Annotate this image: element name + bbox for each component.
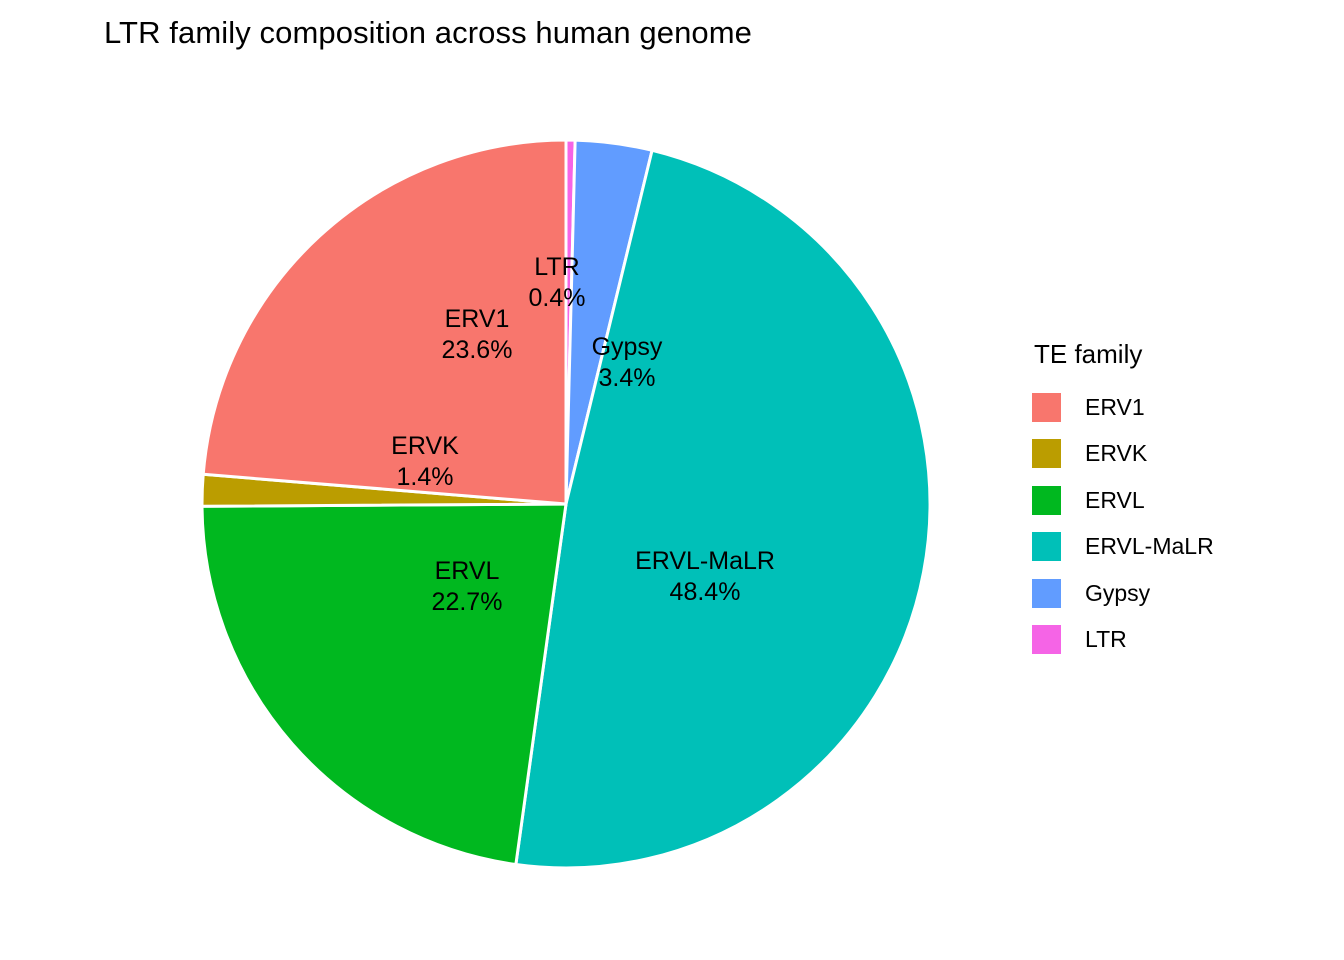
legend-title: TE family [1034, 338, 1332, 370]
legend-item-erv1[interactable]: ERV1 [1032, 384, 1332, 431]
pie-slice-ervl[interactable] [202, 504, 566, 865]
legend-label-ervl: ERVL [1085, 487, 1145, 514]
legend-label-ervk: ERVK [1085, 440, 1147, 467]
legend: TE family ERV1ERVKERVLERVL-MaLRGypsyLTR [1032, 338, 1332, 663]
legend-swatch-ervk [1032, 439, 1061, 468]
legend-label-ervl-malr: ERVL-MaLR [1085, 533, 1214, 560]
legend-swatch-ervl-malr [1032, 532, 1061, 561]
legend-item-ervl-malr[interactable]: ERVL-MaLR [1032, 524, 1332, 571]
legend-item-ltr[interactable]: LTR [1032, 617, 1332, 664]
legend-swatch-ltr [1032, 625, 1061, 654]
legend-items: ERV1ERVKERVLERVL-MaLRGypsyLTR [1032, 384, 1332, 663]
legend-item-gypsy[interactable]: Gypsy [1032, 570, 1332, 617]
legend-label-ltr: LTR [1085, 626, 1127, 653]
legend-swatch-erv1 [1032, 393, 1061, 422]
legend-swatch-gypsy [1032, 579, 1061, 608]
pie-plot-area: LTR0.4%Gypsy3.4%ERVL-MaLR48.4%ERVL22.7%E… [0, 0, 1010, 960]
legend-label-gypsy: Gypsy [1085, 580, 1150, 607]
legend-item-ervl[interactable]: ERVL [1032, 477, 1332, 524]
legend-item-ervk[interactable]: ERVK [1032, 431, 1332, 478]
legend-label-erv1: ERV1 [1085, 394, 1145, 421]
pie-svg [0, 0, 1010, 960]
pie-chart-figure: LTR family composition across human geno… [0, 0, 1344, 960]
pie-slice-erv1[interactable] [203, 140, 566, 504]
legend-swatch-ervl [1032, 486, 1061, 515]
pie-slices-group [202, 140, 930, 868]
